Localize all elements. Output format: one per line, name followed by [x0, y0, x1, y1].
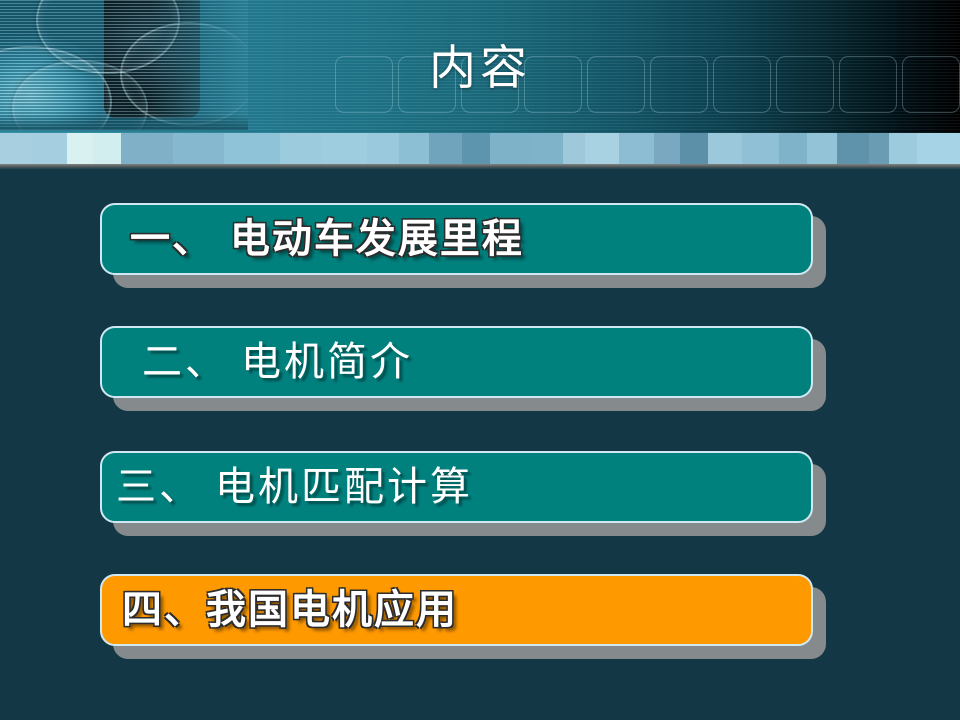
- stripe-segment: [917, 133, 960, 164]
- content-item-bar[interactable]: 二、 电机简介: [100, 326, 813, 398]
- stripe-segment: [67, 133, 93, 164]
- stripe-segment: [224, 133, 280, 164]
- stripe-segment: [462, 133, 490, 164]
- stripe-segment: [429, 133, 463, 164]
- content-item-bar[interactable]: 三、 电机匹配计算: [100, 451, 813, 523]
- photo-bottom-fade: [0, 114, 248, 130]
- content-item-bar[interactable]: 四、我国电机应用: [100, 574, 813, 646]
- stripe-segment: [742, 133, 779, 164]
- stripe-segment: [708, 133, 742, 164]
- stripe-segment: [0, 133, 32, 164]
- stripe-band: [0, 133, 960, 164]
- content-item-label: 四、我国电机应用: [102, 587, 458, 633]
- stripe-segment: [280, 133, 323, 164]
- slide-header: 内容: [0, 0, 960, 133]
- stripe-segment: [585, 133, 619, 164]
- stripe-segment: [173, 133, 223, 164]
- stripe-segment: [121, 133, 173, 164]
- content-item-bar[interactable]: 一、 电动车发展里程: [100, 203, 813, 275]
- stripe-segment: [93, 133, 121, 164]
- stripe-segment: [837, 133, 869, 164]
- stripe-segment: [490, 133, 533, 164]
- stripe-segment: [869, 133, 890, 164]
- content-item-label: 二、 电机简介: [102, 339, 413, 385]
- content-item-label: 三、 电机匹配计算: [102, 464, 473, 510]
- stripe-segment: [367, 133, 399, 164]
- stripe-segment: [654, 133, 680, 164]
- presentation-slide: 内容 一、 电动车发展里程 二、 电机简介 三、 电机匹配计算: [0, 0, 960, 720]
- stripe-segment: [399, 133, 429, 164]
- stripe-segment: [889, 133, 917, 164]
- stripe-segment: [680, 133, 708, 164]
- stripe-segment: [779, 133, 807, 164]
- slide-title: 内容: [0, 40, 960, 98]
- stripe-segment: [619, 133, 654, 164]
- content-list: 一、 电动车发展里程 二、 电机简介 三、 电机匹配计算 四、我国电机应用: [0, 169, 960, 720]
- stripe-segment: [563, 133, 585, 164]
- stripe-segment: [32, 133, 67, 164]
- stripe-segment: [322, 133, 367, 164]
- content-item-label: 一、 电动车发展里程: [102, 216, 524, 262]
- stripe-segment: [807, 133, 837, 164]
- stripe-segment: [533, 133, 563, 164]
